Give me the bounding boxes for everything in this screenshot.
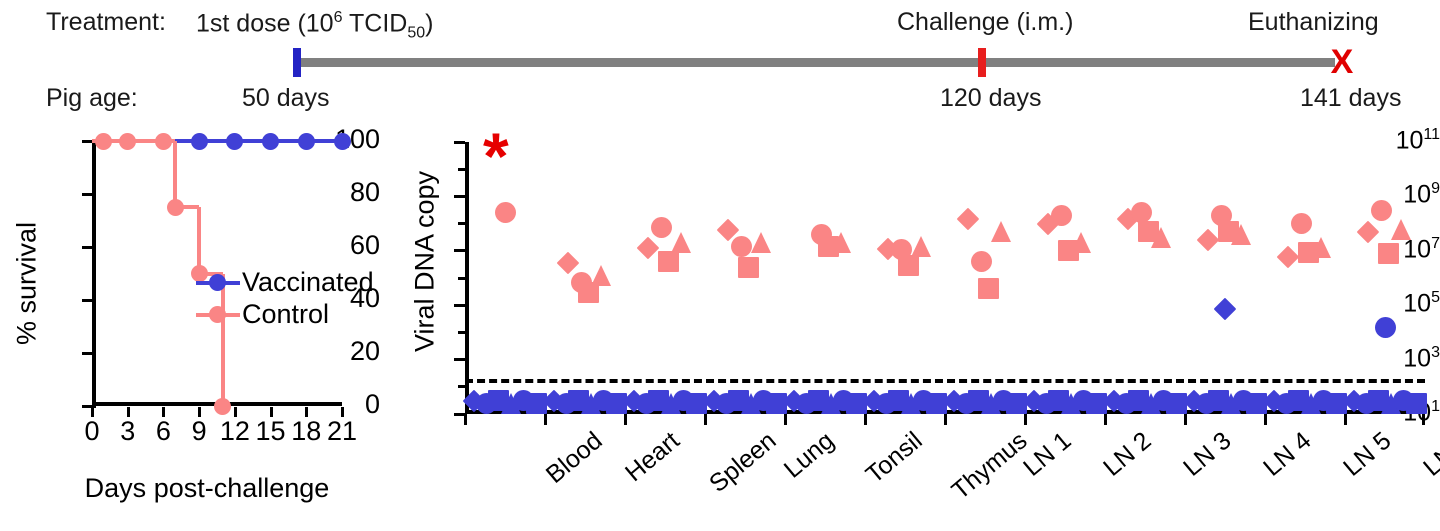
legend-swatch-control: [196, 306, 240, 323]
scatter-x-tick: [944, 414, 947, 425]
scatter-y-tick-minor: [458, 168, 465, 171]
scatter-x-tick: [1422, 414, 1425, 425]
scatter-x-tick: [1024, 414, 1027, 425]
scatter-point-control-diamond: [1357, 220, 1380, 243]
viral-dna-scatter-chart: Viral DNA copy 1011031051071091011 * Blo…: [380, 118, 1440, 531]
scatter-y-tick-minor: [458, 385, 465, 388]
survival-legend: Vaccinated Control: [196, 266, 374, 330]
survival-point-control: [155, 133, 172, 150]
scatter-y-tick-minor: [458, 331, 465, 334]
scatter-x-tick: [544, 414, 547, 425]
scatter-x-tick-label: LN 4: [1259, 428, 1316, 481]
scatter-point-control-circle: [651, 217, 672, 238]
scatter-y-tick-major: [454, 141, 465, 144]
scatter-point-control-circle: [495, 202, 516, 223]
survival-point-vaccinated: [334, 133, 351, 150]
survival-point-control: [167, 199, 184, 216]
scatter-point-control-triangle: [671, 232, 691, 253]
scatter-point-vaccinated-outlier: [1214, 298, 1237, 321]
scatter-point-control-square: [978, 278, 999, 299]
scatter-x-tick-label: LN 6: [1419, 428, 1440, 481]
dose-title-sup: 6: [334, 9, 343, 26]
scatter-point-control-diamond: [1277, 246, 1300, 269]
dose-title-mid: TCID: [343, 9, 408, 37]
scatter-point-vaccinated-floor: [1006, 393, 1027, 414]
scatter-x-tick-label: Spleen: [705, 428, 781, 497]
survival-point-vaccinated: [226, 133, 243, 150]
scatter-point-control-circle: [731, 236, 752, 257]
scatter-point-control-square: [1218, 221, 1239, 242]
scatter-point-control-circle: [1051, 205, 1072, 226]
scatter-x-tick-label: Thymus: [948, 428, 1032, 504]
scatter-point-vaccinated-floor: [526, 393, 547, 414]
survival-y-tick: [82, 246, 93, 249]
legend-item-control: Control: [196, 298, 374, 330]
event-title-challenge: Challenge (i.m.): [897, 10, 1073, 35]
scatter-y-tick-major: [454, 195, 465, 198]
scatter-point-control-triangle: [991, 221, 1011, 242]
survival-point-control: [214, 398, 231, 415]
scatter-point-vaccinated-floor: [846, 393, 867, 414]
scatter-y-tick-major: [454, 304, 465, 307]
survival-point-control: [119, 133, 136, 150]
dose-title-suffix: ): [425, 9, 433, 37]
scatter-x-tick: [624, 414, 627, 425]
significance-asterisk: *: [483, 123, 509, 189]
scatter-x-tick: [704, 414, 707, 425]
dose-title-sub: 50: [407, 24, 425, 41]
survival-point-control: [95, 133, 112, 150]
scatter-y-tick-minor: [458, 277, 465, 280]
scatter-point-control-square: [818, 236, 839, 257]
scatter-y-axis-line: [465, 142, 469, 414]
scatter-x-tick: [1184, 414, 1187, 425]
scatter-point-control-square: [658, 251, 679, 272]
red-x-icon: X: [1325, 45, 1359, 79]
survival-point-vaccinated: [262, 133, 279, 150]
scatter-x-tick-label: LN 1: [1019, 428, 1076, 481]
scatter-x-tick-label: Lung: [780, 428, 839, 483]
scatter-y-tick-major: [454, 249, 465, 252]
survival-y-tick: [82, 299, 93, 302]
survival-x-tick-label: 21: [320, 418, 364, 445]
scatter-point-control-circle: [1371, 200, 1392, 221]
scatter-x-tick-label: LN 5: [1339, 428, 1396, 481]
scatter-x-tick-label: LN 2: [1099, 428, 1156, 481]
event-title-dose: 1st dose (106 TCID50): [196, 10, 433, 41]
scatter-point-control-square: [1298, 242, 1319, 263]
scatter-point-vaccinated-floor: [1166, 393, 1187, 414]
scatter-point-control-triangle: [751, 232, 771, 253]
scatter-x-tick: [1344, 414, 1347, 425]
survival-y-axis-label: % survival: [12, 194, 43, 374]
survival-chart: % survival 020406080100 036912151821 Day…: [0, 118, 380, 531]
legend-label-control: Control: [242, 299, 329, 330]
survival-point-vaccinated: [298, 133, 315, 150]
survival-point-vaccinated: [191, 133, 208, 150]
age-challenge: 120 days: [940, 86, 1041, 111]
age-dose: 50 days: [242, 86, 330, 111]
scatter-point-control-circle: [971, 251, 992, 272]
scatter-point-control-circle: [1131, 202, 1152, 223]
survival-y-tick: [82, 193, 93, 196]
scatter-point-vaccinated-floor: [766, 393, 787, 414]
scatter-x-tick: [1104, 414, 1107, 425]
scatter-point-vaccinated-floor: [1246, 393, 1267, 414]
scatter-point-control-circle: [1291, 213, 1312, 234]
survival-y-tick: [82, 352, 93, 355]
scatter-point-control-square: [1058, 240, 1079, 261]
scatter-x-tick-label: Heart: [621, 428, 684, 486]
scatter-x-tick: [1264, 414, 1267, 425]
dose-title-prefix: 1st dose (10: [196, 9, 334, 37]
survival-x-axis-label: Days post-challenge: [42, 473, 372, 504]
detection-threshold-line: [465, 379, 1425, 383]
scatter-point-control-triangle: [911, 236, 931, 257]
scatter-point-vaccinated-floor: [926, 393, 947, 414]
scatter-point-vaccinated-floor: [1086, 393, 1107, 414]
scatter-point-control-diamond: [637, 236, 660, 259]
scatter-y-tick-minor: [458, 222, 465, 225]
scatter-x-tick-label: Tonsil: [862, 428, 927, 488]
scatter-point-vaccinated-floor: [1406, 393, 1427, 414]
scatter-point-control-square: [578, 282, 599, 303]
scatter-point-control-square: [1378, 243, 1399, 264]
age-euthanizing: 141 days: [1300, 86, 1401, 111]
scatter-x-tick-label: Blood: [542, 428, 607, 488]
scatter-point-control-triangle: [1391, 219, 1411, 240]
legend-label-vaccinated: Vaccinated: [242, 267, 374, 298]
timeline-bar: [300, 58, 1335, 67]
scatter-point-vaccinated-floor: [686, 393, 707, 414]
scatter-y-axis-label: Viral DNA copy: [410, 137, 441, 387]
scatter-point-control-square: [898, 255, 919, 276]
timeline-marker-dose: [293, 48, 301, 77]
scatter-point-control-diamond: [957, 208, 980, 231]
scatter-point-control-square: [738, 257, 759, 278]
scatter-x-tick: [864, 414, 867, 425]
survival-y-axis-line: [92, 141, 96, 408]
scatter-plot-area: [465, 142, 1425, 414]
legend-swatch-vaccinated: [196, 274, 240, 291]
timeline-marker-challenge: [978, 48, 986, 77]
survival-line-control: [173, 141, 177, 207]
scatter-point-vaccinated-floor: [1326, 393, 1347, 414]
survival-line-control: [197, 207, 201, 273]
scatter-point-vaccinated-outlier: [1375, 317, 1396, 338]
scatter-x-tick: [784, 414, 787, 425]
scatter-x-tick-label: LN 3: [1179, 428, 1236, 481]
scatter-point-vaccinated-floor: [606, 393, 627, 414]
treatment-row-label: Treatment:: [46, 10, 166, 35]
event-title-euthanizing: Euthanizing: [1248, 10, 1379, 35]
scatter-point-control-diamond: [557, 252, 580, 275]
legend-item-vaccinated: Vaccinated: [196, 266, 374, 298]
scatter-x-tick: [464, 414, 467, 425]
scatter-point-control-square: [1138, 221, 1159, 242]
treatment-timeline: Treatment: 1st dose (106 TCID50) Challen…: [0, 0, 1440, 118]
scatter-point-control-diamond: [1197, 229, 1220, 252]
scatter-y-tick-major: [454, 358, 465, 361]
pig-age-row-label: Pig age:: [46, 86, 138, 111]
